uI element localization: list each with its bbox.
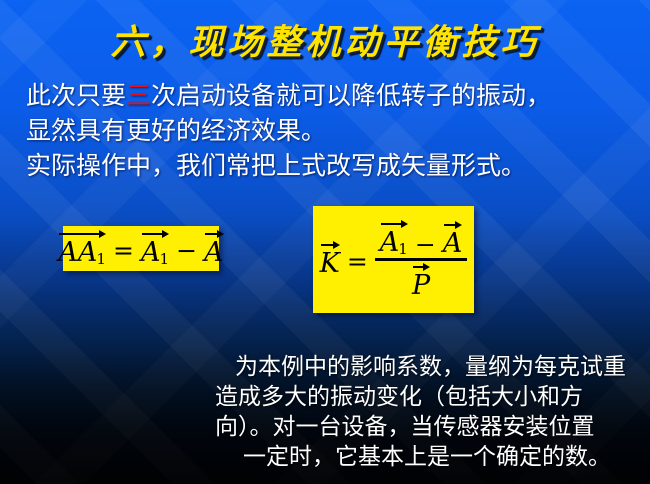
formula-2-denominator: P (407, 261, 435, 299)
vector-a-letter: A (204, 237, 224, 268)
body-upper-line-1-part-2: 次启动设备就可以降低转子的振动， (151, 81, 551, 110)
vector-aa1-subscript: 1 (96, 250, 106, 268)
vector-a-letter-numerator: A (443, 228, 463, 259)
formula-box-influence-coefficient: K = A1 − A (313, 206, 474, 313)
vector-a1-subscript-numerator: 1 (398, 240, 408, 258)
body-upper-line-3: 实际操作中，我们常把上式改写成矢量形式。 (26, 148, 636, 183)
vector-k-term: K (320, 241, 340, 277)
formula-2-equals-sign: = (340, 247, 375, 276)
vector-a1-term: A1 (141, 230, 169, 268)
vector-p-term: P (412, 263, 430, 299)
body-upper-line-2: 显然具有更好的经济效果。 (26, 113, 636, 148)
vector-a1-letter: A (141, 237, 161, 268)
formula-2-numerator: A1 − A (375, 220, 468, 259)
vector-a1-term-numerator: A1 (380, 220, 408, 258)
body-lower-line-1: 为本例中的影响系数，量纲为每克试重 (215, 352, 645, 382)
vector-a1-letter-numerator: A (380, 227, 400, 258)
formula-1-equation: AA1 = A1 − A (58, 230, 223, 268)
vector-aa1-letters: AA (58, 237, 97, 268)
vector-aa1-term: AA1 (58, 230, 106, 268)
slide-title: 六，现场整机动平衡技巧 (0, 14, 650, 65)
formula-2-fraction: A1 − A P (375, 220, 468, 300)
vector-k-letter: K (320, 248, 340, 279)
vector-a-term-numerator: A (443, 221, 463, 257)
vector-a-term: A (204, 230, 224, 266)
slide-canvas: 六，现场整机动平衡技巧 此次只要三次启动设备就可以降低转子的振动， 显然具有更好… (0, 0, 650, 484)
body-upper-highlight-word: 三 (126, 81, 151, 110)
vector-a1-subscript: 1 (160, 250, 170, 268)
body-upper-line-1: 此次只要三次启动设备就可以降低转子的振动， (26, 78, 636, 113)
vector-p-letter: P (412, 270, 430, 301)
body-text-upper: 此次只要三次启动设备就可以降低转子的振动， 显然具有更好的经济效果。 实际操作中… (26, 78, 636, 183)
formula-1-equals-sign: = (106, 236, 141, 265)
body-upper-line-1-part-1: 此次只要 (26, 81, 126, 110)
body-lower-line-2: 造成多大的振动变化（包括大小和方 (215, 382, 645, 412)
formula-box-vector-difference: AA1 = A1 − A (63, 226, 219, 271)
body-text-lower: 为本例中的影响系数，量纲为每克试重 造成多大的振动变化（包括大小和方 向）。对一… (215, 352, 645, 472)
formula-1-minus-sign: − (169, 236, 204, 265)
body-lower-line-4: 一定时，它基本上是一个确定的数。 (243, 442, 645, 472)
formula-2-minus-sign: − (408, 230, 443, 259)
body-lower-line-3: 向）。对一台设备，当传感器安装位置 (215, 412, 645, 442)
formula-2-equation: K = A1 − A (320, 220, 468, 300)
